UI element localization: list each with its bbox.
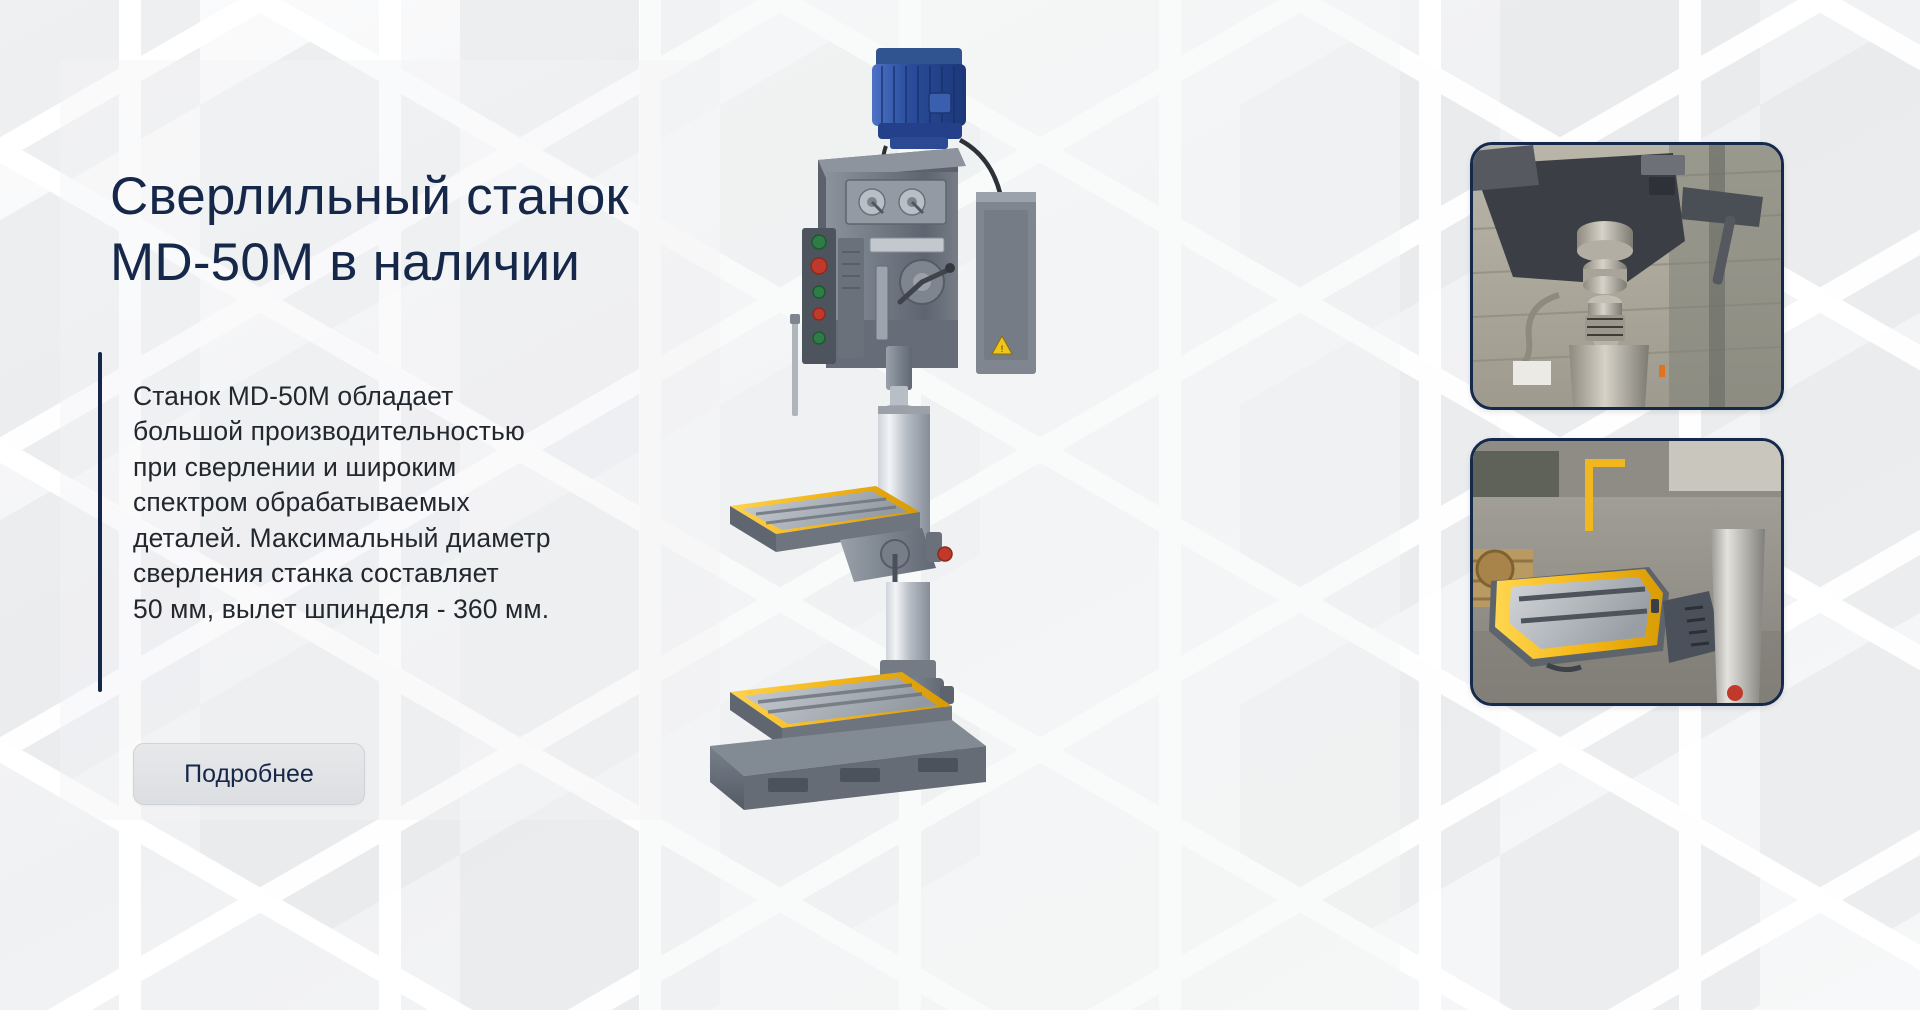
svg-text:!: ! [1001, 344, 1004, 354]
green-button [813, 286, 825, 298]
red-button [813, 308, 825, 320]
description-text: Станок MD-50M обладает большой производи… [133, 379, 551, 628]
green-button-bottom [813, 332, 825, 344]
electrical-cabinet: ! [976, 192, 1036, 374]
headline-line-2: MD-50M в наличии [110, 230, 730, 297]
description-line: при сверлении и широким [133, 450, 551, 486]
headline-line-1: Сверлильный станок [110, 167, 629, 226]
description-line: Станок MD-50M обладает [133, 379, 551, 415]
table-top [1489, 567, 1669, 667]
lower-column [886, 582, 930, 664]
thumbnail-work-table[interactable] [1470, 438, 1784, 706]
cta-block: Подробнее [98, 598, 698, 805]
description-line: большой производительностью [133, 414, 551, 450]
page-title: Сверлильный станок MD-50M в наличии [110, 164, 730, 298]
text-column: Сверлильный станок MD-50M в наличии Стан… [0, 0, 760, 1010]
thumbnail-spindle-chuck[interactable] [1470, 142, 1784, 410]
drill-press-main-image: ! [690, 20, 1330, 810]
description-line: сверления станка составляет [133, 556, 551, 592]
red-emergency-button [811, 258, 827, 274]
description-line: деталей. Максимальный диаметр [133, 521, 551, 557]
machine-head [802, 148, 966, 444]
green-button-top [812, 235, 826, 249]
coolant-nozzle [790, 314, 800, 416]
machine-base [710, 720, 986, 810]
promo-banner: Сверлильный станок MD-50M в наличии Стан… [0, 0, 1920, 1010]
description-line: спектром обрабатываемых [133, 485, 551, 521]
table-lock-knob [938, 547, 952, 561]
more-details-button[interactable]: Подробнее [133, 743, 365, 805]
